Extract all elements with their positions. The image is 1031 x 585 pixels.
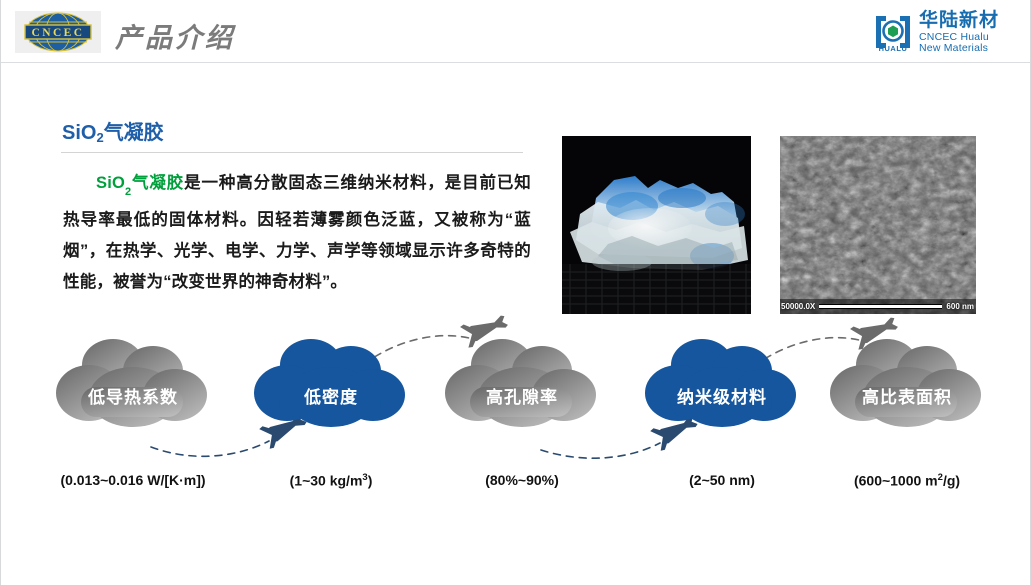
paragraph-highlight-main: SiO [96, 174, 125, 192]
cloud-caption-1-pre: (1~30 kg/m [290, 473, 363, 489]
paragraph-highlight: SiO2气凝胶 [96, 174, 184, 192]
cloud-caption-4-pre: (600~1000 m [854, 473, 938, 489]
cncec-logo: CNCEC [15, 11, 101, 53]
cloud-caption-1-post: ) [368, 473, 373, 489]
cncec-logo-text: CNCEC [32, 27, 85, 39]
sem-micrograph: 50000.0X 600 nm [780, 136, 976, 314]
hualu-logo: HUALU 华陆新材 CNCEC Hualu New Materials [872, 10, 1018, 54]
paragraph-highlight-rest: 气凝胶 [131, 174, 184, 192]
cloud-caption-4: (600~1000 m2/g) [792, 472, 1022, 489]
page-title: 产品介绍 [115, 16, 235, 55]
hualu-mark-text: HUALU [879, 44, 908, 52]
hualu-logo-en2: New Materials [919, 43, 999, 54]
section-title: SiO2气凝胶 [62, 116, 164, 145]
cloud-caption-0: (0.013~0.016 W/[K·m]) [18, 472, 248, 488]
cloud-shape-blue-1 [253, 325, 409, 445]
sem-scale-length: 600 nm [946, 302, 974, 311]
section-divider [61, 152, 523, 153]
cloud-item-0[interactable]: 低导热系数 [55, 325, 211, 445]
sem-magnification: 50000.0X [781, 302, 815, 311]
cloud-item-3[interactable]: 纳米级材料 [644, 325, 800, 445]
aerogel-sample-photo [562, 136, 751, 314]
slide-header: CNCEC 产品介绍 HUALU 华陆新材 CNCEC Hualu New Ma… [1, 0, 1031, 63]
sem-scale-line [819, 304, 942, 309]
cloud-shape-gray-4 [829, 325, 985, 445]
cloud-item-1[interactable]: 低密度 [253, 325, 409, 445]
cloud-item-2[interactable]: 高孔隙率 [444, 325, 600, 445]
cloud-caption-2: (80%~90%) [407, 472, 637, 488]
cloud-shape-blue-3 [644, 325, 800, 445]
paragraph-highlight-sub: 2 [125, 186, 131, 198]
hualu-mark-icon: HUALU [872, 12, 914, 52]
cloud-row: 低导热系数 低密度 [1, 325, 1031, 455]
section-title-main: SiO [62, 122, 96, 144]
cloud-shape-gray-0 [55, 325, 211, 445]
cloud-shape-gray-2 [444, 325, 600, 445]
sem-scale-bar: 50000.0X 600 nm [780, 299, 976, 314]
cloud-item-4[interactable]: 高比表面积 [829, 325, 985, 445]
section-title-sub: 2 [96, 130, 103, 145]
hualu-logo-cn: 华陆新材 [919, 11, 999, 30]
hualu-logo-en1: CNCEC Hualu [919, 32, 999, 43]
intro-paragraph: SiO2气凝胶是一种高分散固态三维纳米材料，是目前已知热导率最低的固体材料。因轻… [63, 168, 531, 298]
cloud-caption-4-post: /g) [943, 473, 960, 489]
slide-root: CNCEC 产品介绍 HUALU 华陆新材 CNCEC Hualu New Ma… [0, 0, 1031, 585]
section-title-rest: 气凝胶 [104, 122, 164, 144]
